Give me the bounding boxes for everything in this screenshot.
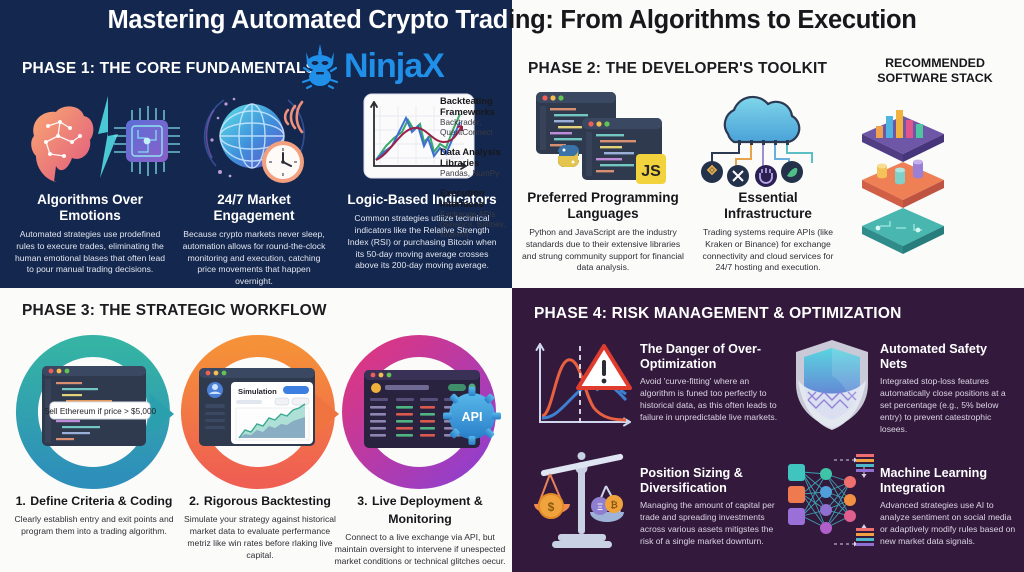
ninjax-logo: NinjaX — [300, 40, 514, 92]
phase1-col2-title: 24/7 Market Engagement — [178, 192, 330, 224]
workflow-step-1: 1. Define Criteria & Coding Clearly esta… — [10, 492, 178, 538]
workflow-step-3: 3. Live Deployment & Monitoring Connect … — [330, 492, 510, 568]
code-windows-icon: JS — [528, 88, 676, 188]
balance-scale-coins-icon: $ Ξ ₿ — [528, 448, 636, 552]
neural-network-icon — [782, 452, 878, 550]
software-stack-heading: RECOMMENDED SOFTWARE STACK — [860, 56, 1010, 86]
phase2-col1-title: Preferred Programming Languages — [522, 190, 684, 222]
globe-clock-icon — [196, 88, 316, 188]
phase1-column-1: Algorithms Over Emotions Automated strat… — [14, 192, 166, 276]
cloud-network-icon — [694, 88, 834, 188]
step3-callout-text: API — [462, 410, 483, 424]
infographic-canvas: Mastering Automated Crypto Trading: From… — [0, 0, 1024, 572]
stack-item-backtesting: Backteating Frameworks Backtrader, Quant… — [440, 96, 514, 138]
risk-card-1: The Danger of Over-Optimization Avoid 'c… — [640, 342, 782, 423]
phase2-column-1: Preferred Programming Languages Python a… — [522, 190, 684, 274]
phase2-col2-body: Trading systems require APIs (like Krake… — [694, 227, 842, 274]
phase2-column-2: Essential Infrastructure Trading systems… — [694, 190, 842, 274]
phase1-col1-body: Automated strategies use prodefined rule… — [14, 229, 166, 276]
stack-item-execution: Execution Interfaces Exchange APIs (Bina… — [440, 188, 514, 240]
step-1-number: 1. — [16, 494, 26, 508]
stack-item-3-items: Exchange APIs (Binance, Bitfinex, Kraken… — [440, 210, 514, 240]
python-logo-icon — [558, 145, 579, 167]
shield-safety-net-icon — [790, 336, 874, 432]
stack-layer-1 — [862, 110, 944, 162]
phase1-col2-body: Because crypto markets never sleep, auto… — [178, 229, 330, 288]
phase1-col1-title: Algorithms Over Emotions — [14, 192, 166, 224]
stack-layer-2 — [862, 160, 944, 208]
data-bars-icon — [856, 454, 874, 546]
simulation-dashboard-icon: Simulation — [183, 338, 358, 488]
exchange-node-icons — [701, 161, 803, 187]
javascript-logo-icon: JS — [636, 154, 666, 184]
phase2-col1-body: Python and JavaScript are the industry s… — [522, 227, 684, 274]
step2-callout-text: Simulation — [238, 387, 277, 396]
stack-item-2-title: Data Analysis Libraries — [440, 147, 514, 169]
risk-card-1-title: The Danger of Over-Optimization — [640, 342, 782, 372]
step-2-number: 2. — [189, 494, 199, 508]
software-stack-list: Backteating Frameworks Backtrader, Quant… — [440, 96, 514, 249]
step-3-number: 3. — [357, 494, 367, 508]
layered-stack-icon — [858, 96, 948, 262]
stack-item-2-items: Pandas, NumPy — [440, 169, 514, 179]
risk-card-2-body: Integrated stop-loss features automatica… — [880, 375, 1016, 435]
trading-table-api-icon: API — [344, 338, 519, 488]
stack-item-1-items: Backtrader, QuantConnect — [440, 118, 514, 138]
risk-card-2-title: Automated Safety Nets — [880, 342, 1016, 372]
risk-card-4-body: Advanced strategies use AI to analyze se… — [880, 499, 1018, 547]
phase1-heading: PHASE 1: THE CORE FUNDAMENTALS — [22, 60, 316, 78]
overfitting-curve-warning-icon — [530, 338, 638, 434]
step-1-title: Define Criteria & Coding — [30, 494, 172, 508]
risk-card-3-title: Position Sizing & Diversification — [640, 466, 784, 496]
phase4-heading: PHASE 4: RISK MANAGEMENT & OPTIMIZATION — [534, 305, 901, 323]
risk-card-1-body: Avoid 'curve-fitting' where an algorithm… — [640, 375, 782, 423]
risk-card-4-title: Machine Learning Integration — [880, 466, 1018, 496]
warning-triangle-icon — [578, 346, 630, 388]
step-2-body: Simulate your strategy against historica… — [180, 514, 340, 561]
stack-item-1-title: Backteating Frameworks — [440, 96, 514, 118]
step1-callout-text: Sell Ethereum if price > $5,000 — [44, 407, 157, 416]
ninjax-wordmark: NinjaX — [344, 47, 444, 86]
code-editor-circle-icon: Sell Ethereum if price > $5,000 — [18, 338, 188, 488]
brain-vs-chip-icon — [22, 90, 182, 186]
risk-card-4: Machine Learning Integration Advanced st… — [880, 466, 1018, 547]
stack-layer-3 — [862, 208, 944, 254]
risk-card-3-body: Managing the amount of capital per trade… — [640, 499, 784, 547]
phase2-heading: PHASE 2: THE DEVELOPER'S TOOLKIT — [528, 60, 827, 78]
step-1-body: Clearly establish entry and exit points … — [10, 514, 178, 538]
svg-text:₿: ₿ — [610, 500, 617, 510]
svg-text:$: $ — [548, 500, 555, 514]
stack-item-data-analysis: Data Analysis Libraries Pandas, NumPy — [440, 147, 514, 179]
step-3-title: Live Deployment & Monitoring — [372, 494, 483, 526]
risk-card-2: Automated Safety Nets Integrated stop-lo… — [880, 342, 1016, 435]
phase1-column-2: 24/7 Market Engagement Because crypto ma… — [178, 192, 330, 288]
workflow-step-2: 2. Rigorous Backtesting Simulate your st… — [180, 492, 340, 561]
phase3-heading: PHASE 3: THE STRATEGIC WORKFLOW — [22, 302, 327, 320]
step-3-body: Connect to a live exchange via API, but … — [330, 532, 510, 568]
svg-text:JS: JS — [641, 163, 661, 180]
ninja-mask-icon — [300, 44, 340, 88]
risk-card-3: Position Sizing & Diversification Managi… — [640, 466, 784, 547]
step-2-title: Rigorous Backtesting — [204, 494, 331, 508]
stack-item-3-title: Execution Interfaces — [440, 188, 514, 210]
svg-text:Ξ: Ξ — [597, 502, 603, 512]
phase2-col2-title: Essential Infrastructure — [694, 190, 842, 222]
